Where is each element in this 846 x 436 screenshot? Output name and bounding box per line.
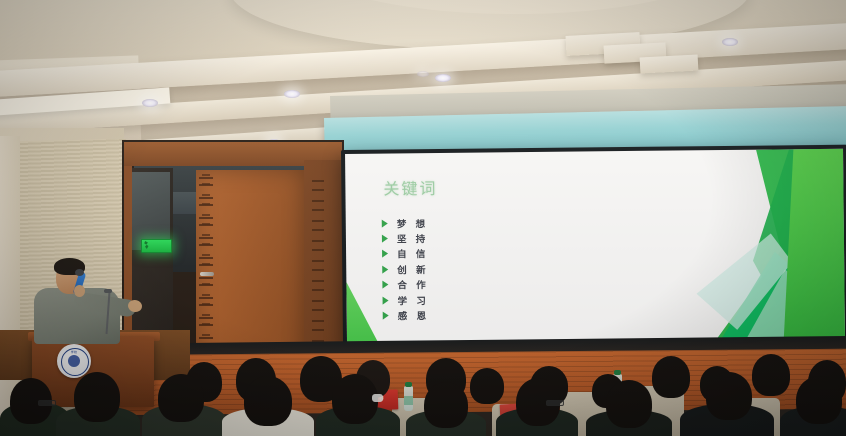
downlight-icon	[417, 71, 429, 77]
face-mask	[372, 394, 383, 402]
list-item-label: 创 新	[397, 262, 428, 276]
triangle-bullet-icon	[382, 265, 388, 273]
audience-head	[470, 368, 504, 404]
triangle-bullet-icon	[383, 312, 389, 320]
list-item: 合 作	[382, 277, 428, 293]
list-item: 创 新	[382, 261, 428, 277]
audience-head	[652, 356, 690, 398]
list-item-label: 合 作	[397, 277, 428, 291]
list-item-label: 坚 持	[397, 231, 428, 245]
emblem-center	[68, 355, 80, 367]
downlight-icon	[284, 90, 300, 98]
greek-key-pattern-inner	[202, 174, 210, 368]
greek-key-pattern-right	[312, 180, 324, 360]
triangle-bullet-icon	[382, 281, 388, 289]
list-item: 坚 持	[382, 230, 428, 246]
bottle-cap	[405, 382, 412, 387]
list-item: 学 习	[382, 292, 428, 308]
speaker-hand-holding-mic	[74, 285, 85, 297]
list-item-label: 自 信	[397, 247, 428, 261]
ceiling-step-3	[640, 54, 699, 73]
microphone-stand-head	[104, 289, 112, 293]
lecture-hall-photo: 关键词 梦 想 坚 持 自 信 创 新	[0, 0, 846, 436]
projection-screen[interactable]: 关键词 梦 想 坚 持 自 信 创 新	[345, 149, 845, 356]
list-item: 自 信	[382, 246, 428, 262]
bottle-label	[404, 396, 413, 405]
audience-head	[424, 382, 468, 428]
downlight-icon	[142, 99, 158, 107]
eyeglasses	[38, 400, 56, 406]
audience-head	[606, 380, 652, 428]
audience-head	[752, 354, 790, 396]
list-item: 感 恩	[383, 307, 429, 323]
triangle-bullet-icon	[382, 235, 388, 243]
list-item: 梦 想	[382, 215, 428, 231]
downlight-icon	[435, 74, 451, 82]
list-item-label: 感 恩	[398, 308, 429, 322]
projection-screen-wrapper: 关键词 梦 想 坚 持 自 信 创 新	[341, 145, 846, 360]
list-item-label: 学 习	[398, 293, 429, 307]
downlight-icon	[722, 38, 738, 46]
slide-bullet-list: 梦 想 坚 持 自 信 创 新 合 作	[382, 215, 429, 323]
list-item-label: 梦 想	[397, 216, 428, 230]
slide-title: 关键词	[383, 175, 437, 200]
triangle-bullet-icon	[383, 296, 389, 304]
door-right-jamb	[304, 160, 344, 370]
microphone-capsule	[75, 269, 84, 276]
bottle-cap	[614, 370, 621, 375]
audience-head	[706, 372, 752, 420]
audience-head	[244, 376, 292, 426]
audience-head	[158, 374, 204, 422]
triangle-bullet-icon	[382, 219, 388, 227]
eyeglasses	[546, 400, 564, 406]
triangle-bullet-icon	[382, 250, 388, 258]
audience-head	[796, 376, 842, 424]
door-handle[interactable]	[200, 272, 214, 276]
audience-head	[74, 372, 120, 422]
